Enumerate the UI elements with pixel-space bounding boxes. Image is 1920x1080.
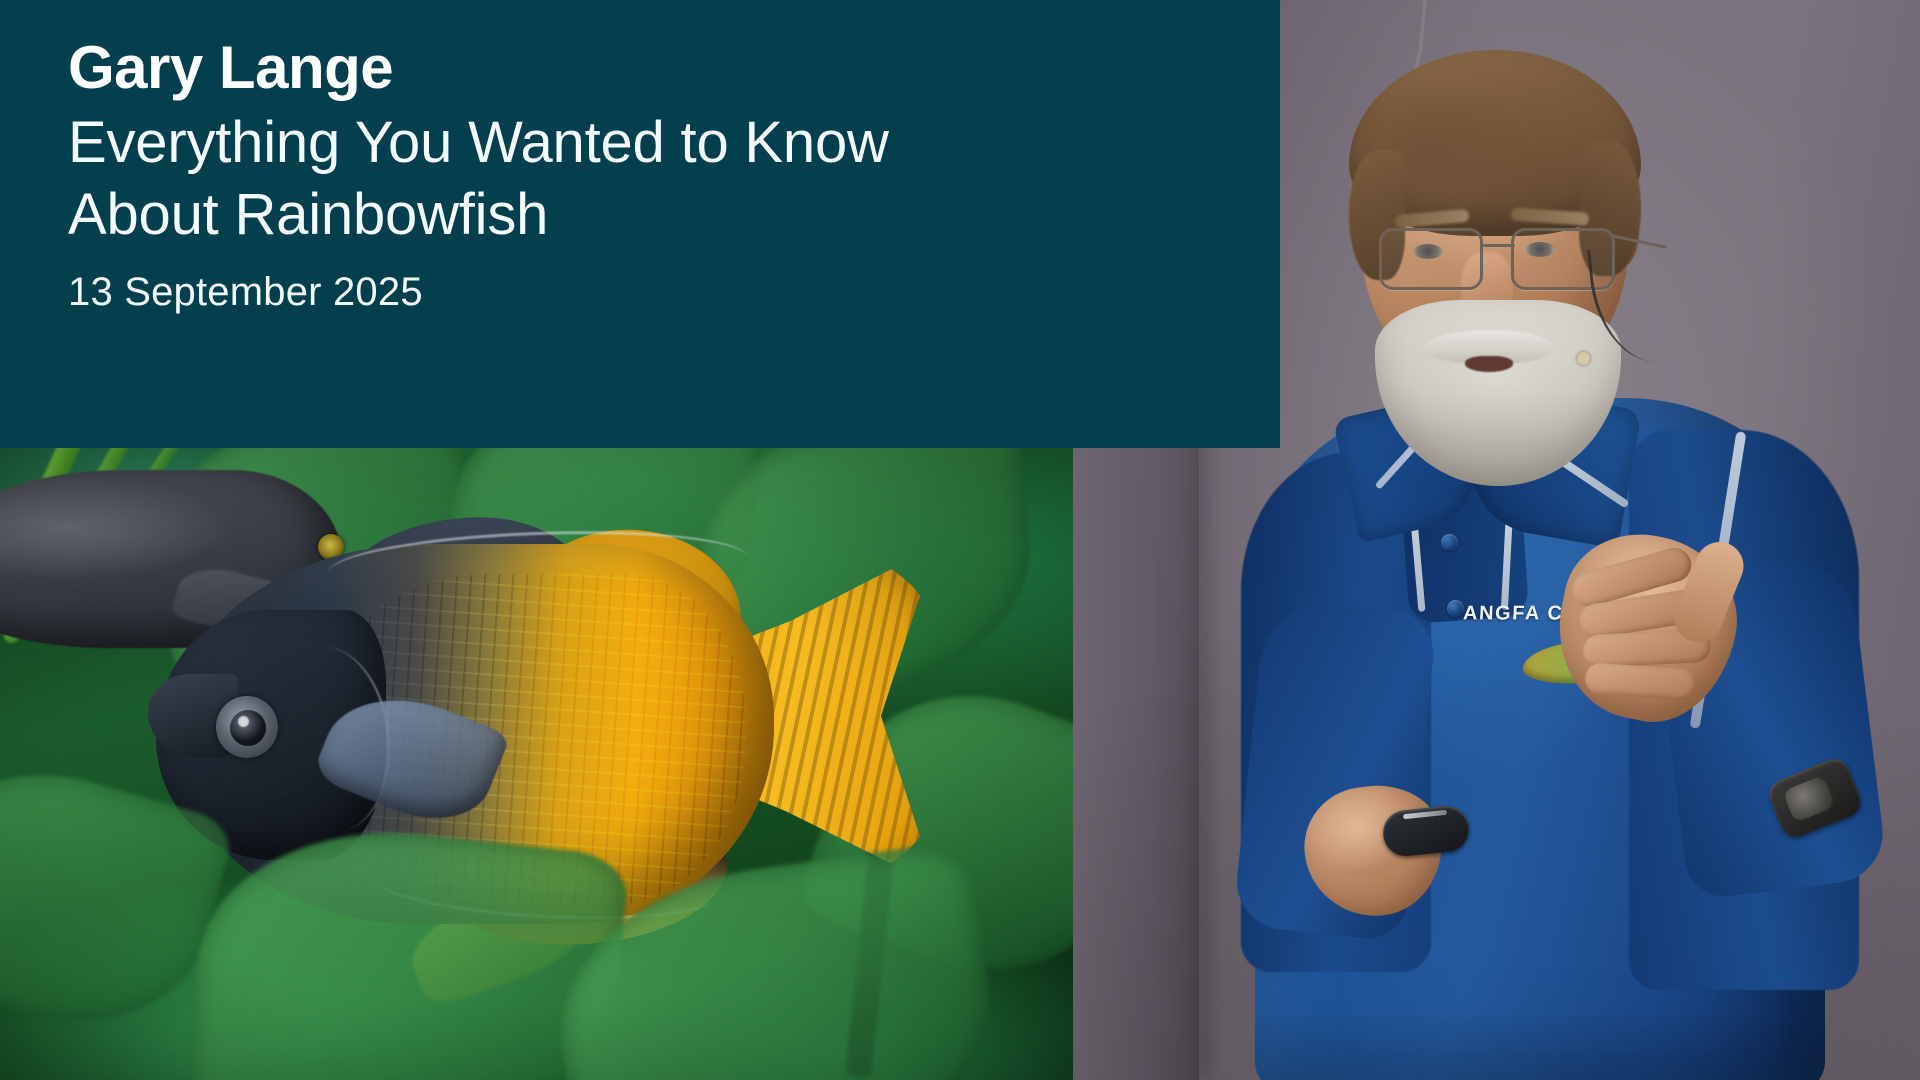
talk-title-line-2: About Rainbowfish xyxy=(68,179,1248,252)
microphone-capsule xyxy=(1577,352,1590,365)
polo-button-top xyxy=(1441,534,1458,551)
mouth xyxy=(1465,356,1513,372)
presentation-slide: ANGFA CONVENTION xyxy=(0,0,1920,1080)
talk-title: Everything You Wanted to Know About Rain… xyxy=(68,107,1248,252)
polo-button-bottom xyxy=(1447,600,1464,617)
photo-vignette xyxy=(0,448,1073,1080)
eyeglass-lens-left xyxy=(1379,228,1483,290)
title-block: Gary Lange Everything You Wanted to Know… xyxy=(68,36,1248,316)
talk-title-line-1: Everything You Wanted to Know xyxy=(68,107,1248,180)
title-card: Gary Lange Everything You Wanted to Know… xyxy=(0,0,1280,448)
rainbowfish-photo xyxy=(0,448,1073,1080)
talk-date: 13 September 2025 xyxy=(68,268,1248,316)
eyeglass-bridge xyxy=(1483,244,1515,247)
speaker-name: Gary Lange xyxy=(68,36,1248,101)
